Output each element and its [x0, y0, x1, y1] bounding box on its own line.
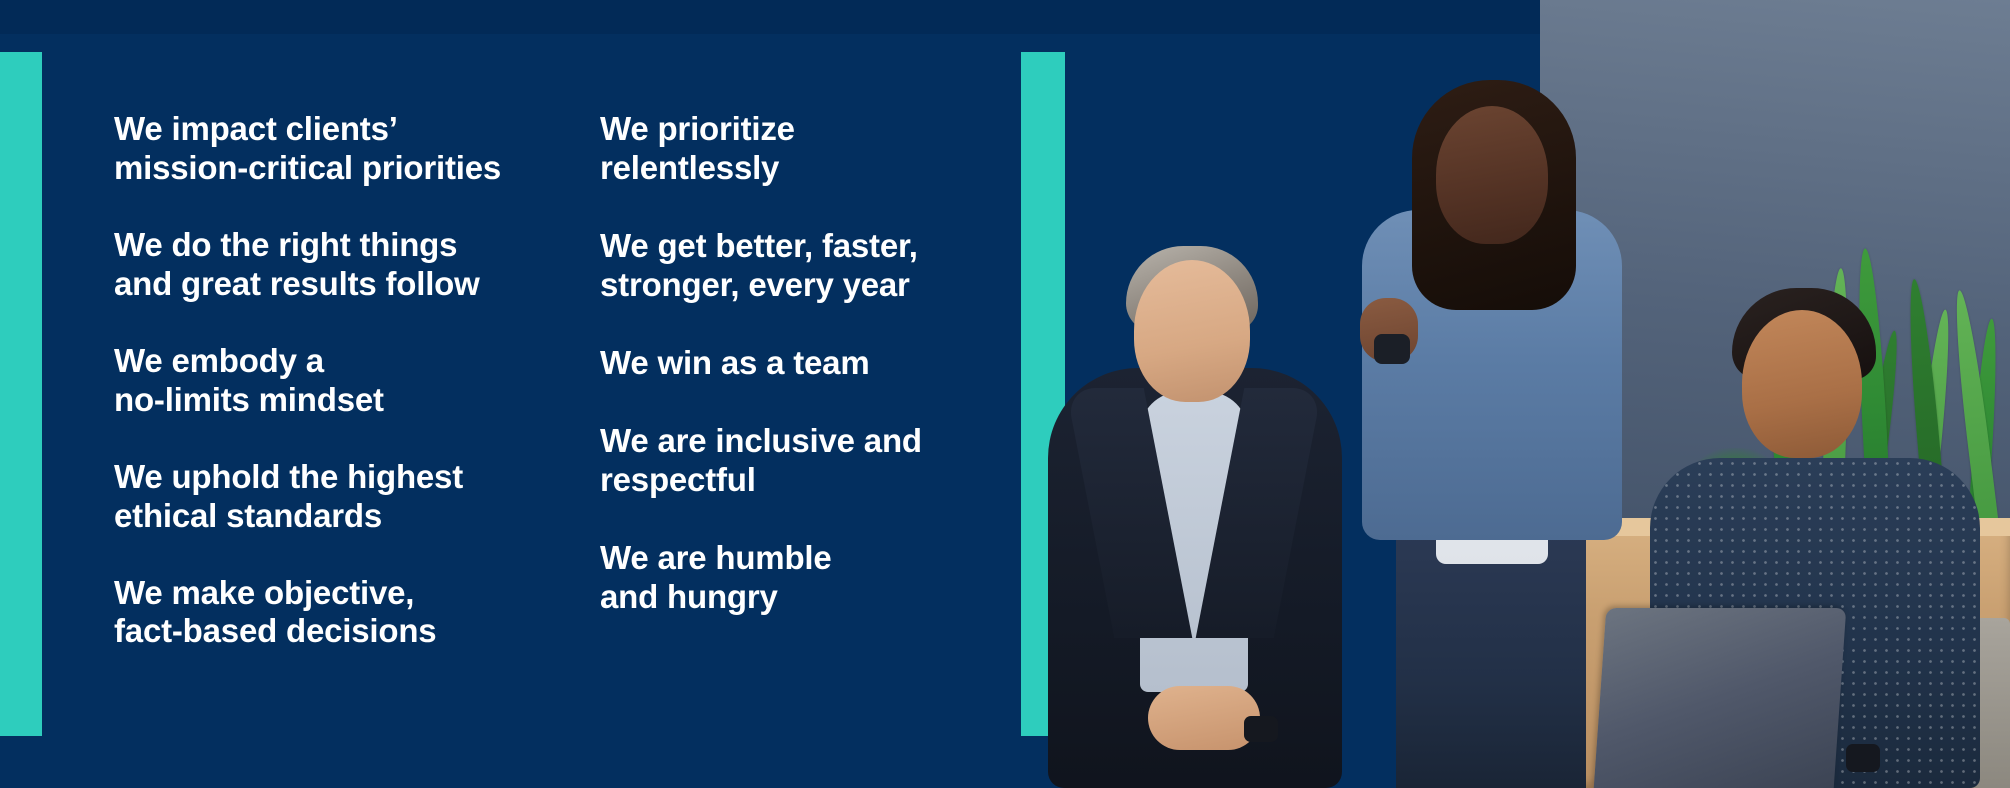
face	[1742, 310, 1862, 458]
values-column-left: We impact clients’ mission-critical prio…	[114, 110, 554, 689]
smartwatch	[1846, 744, 1880, 772]
person-laptop-man	[1630, 248, 2010, 788]
value-inclusive: We are inclusive and respectful	[600, 422, 1000, 500]
value-fact-based-decisions: We make objective, fact-based decisions	[114, 574, 554, 652]
laptop	[1594, 608, 1847, 788]
value-right-things: We do the right things and great results…	[114, 226, 554, 304]
slide-canvas: We impact clients’ mission-critical prio…	[0, 0, 2010, 788]
value-prioritize: We prioritize relentlessly	[600, 110, 1000, 188]
value-no-limits-mindset: We embody a no-limits mindset	[114, 342, 554, 420]
smartwatch	[1374, 334, 1410, 364]
teal-accent-bar-left	[0, 52, 42, 736]
wristwatch	[1244, 716, 1278, 742]
face	[1436, 106, 1548, 244]
panel-top-strip	[0, 0, 1540, 34]
face	[1134, 260, 1250, 402]
values-column-right: We prioritize relentlessly We get better…	[600, 110, 1000, 655]
value-impact-clients: We impact clients’ mission-critical prio…	[114, 110, 554, 188]
value-humble-hungry: We are humble and hungry	[600, 539, 1000, 617]
value-ethical-standards: We uphold the highest ethical standards	[114, 458, 554, 536]
person-suited-man	[1030, 208, 1360, 788]
value-win-as-team: We win as a team	[600, 344, 1000, 383]
clasped-hands	[1148, 686, 1260, 750]
value-better-faster: We get better, faster, stronger, every y…	[600, 227, 1000, 305]
